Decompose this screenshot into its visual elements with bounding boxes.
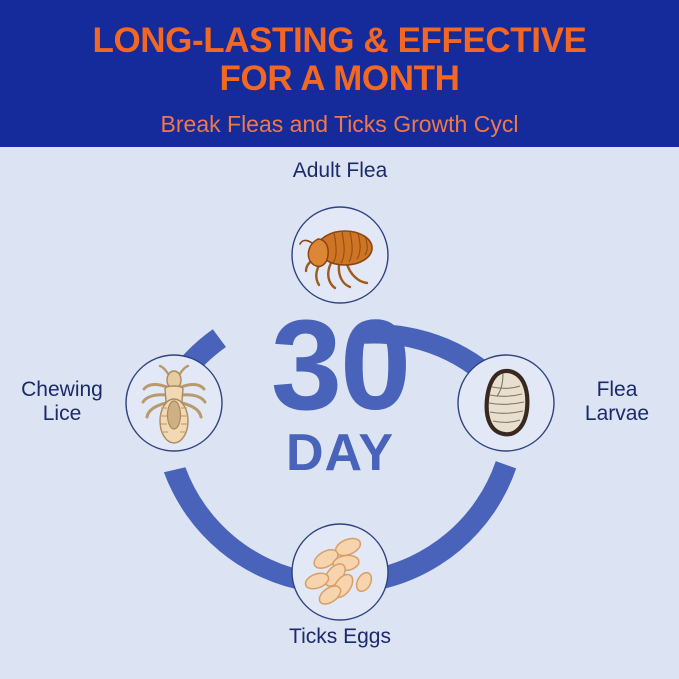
cycle-diagram: 30 DAY Adult Flea Flea Larvae Ticks Eggs…: [0, 147, 679, 679]
node-flea-larvae[interactable]: [458, 355, 554, 451]
node-label-adult-flea: Adult Flea: [240, 159, 440, 183]
ring-arc-bottom-right: [367, 461, 516, 591]
subheadline: Break Fleas and Ticks Growth Cycl: [0, 111, 679, 137]
node-label-flea-larvae: Flea Larvae: [557, 378, 677, 426]
headline-line-1: LONG-LASTING & EFFECTIVE: [0, 22, 679, 60]
node-label-ticks-eggs: Ticks Eggs: [240, 625, 440, 649]
flea-pupa-icon: [487, 371, 528, 434]
node-chewing-lice[interactable]: [126, 355, 222, 451]
node-ticks-eggs[interactable]: [292, 524, 388, 620]
node-label-chewing-lice: Chewing Lice: [2, 378, 122, 426]
node-adult-flea[interactable]: [292, 207, 388, 303]
ring-arc-bottom-left: [164, 467, 312, 591]
header-banner: LONG-LASTING & EFFECTIVE FOR A MONTH Bre…: [0, 0, 679, 147]
headline-line-2: FOR A MONTH: [0, 60, 679, 98]
